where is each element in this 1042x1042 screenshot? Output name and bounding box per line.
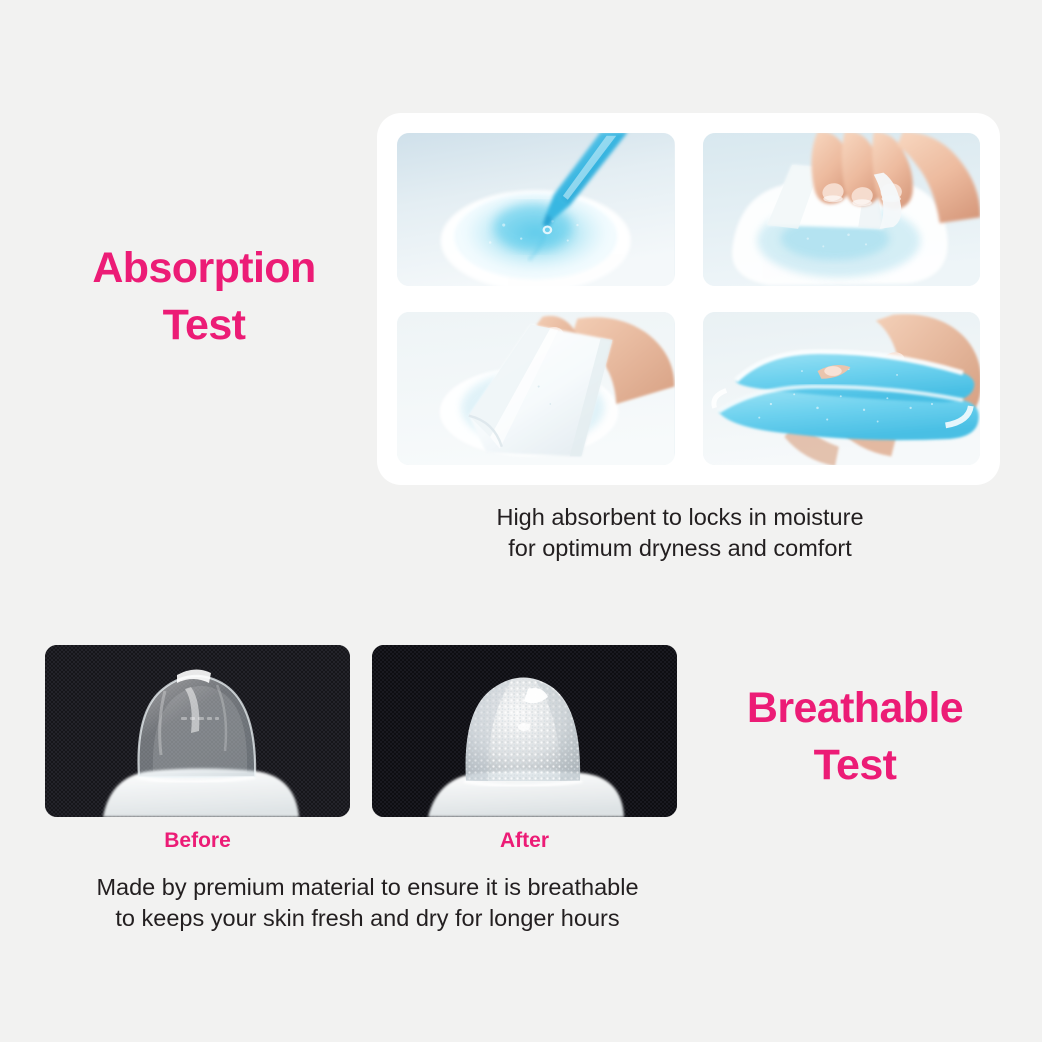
photo-hand-lifting-dry-tissue <box>397 312 675 465</box>
absorption-test-title: Absorption Test <box>34 240 374 354</box>
absorption-photo-card <box>377 113 1000 485</box>
absorption-test-caption: High absorbent to locks in moisture for … <box>420 502 940 565</box>
absorption-photo-grid <box>397 133 980 465</box>
breathable-test-caption: Made by premium material to ensure it is… <box>30 872 705 935</box>
breathable-test-title: Breathable Test <box>690 680 1020 794</box>
after-label: After <box>372 829 677 853</box>
photo-pipette-dropping-blue-liquid-on-pad <box>397 133 675 286</box>
photo-hand-pressing-tissue-on-wet-pad <box>703 133 981 286</box>
before-label: Before <box>45 829 350 853</box>
photo-opened-pad-showing-blue-gel <box>703 312 981 465</box>
photo-clear-dome-before <box>45 645 350 817</box>
photo-fogged-dome-after <box>372 645 677 817</box>
infographic-canvas: Absorption Test <box>0 0 1042 1042</box>
